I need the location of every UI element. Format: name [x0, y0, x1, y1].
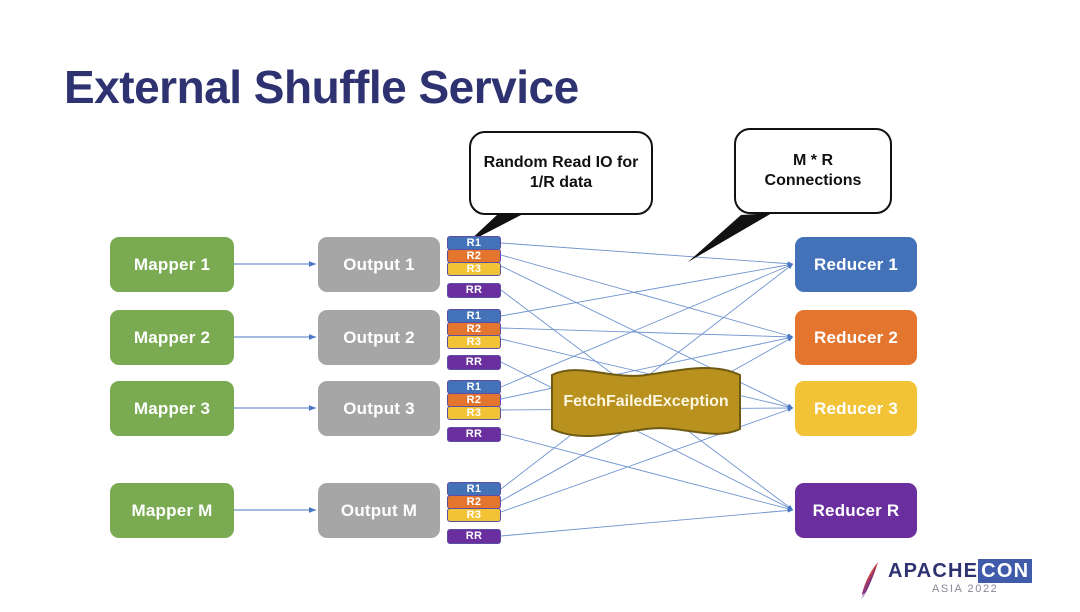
- apachecon-subtitle: ASIA 2022: [932, 583, 998, 595]
- partition-label-m-r3: R3: [467, 510, 482, 521]
- con-text: CON: [978, 559, 1032, 583]
- partition-label-3-rr: RR: [466, 429, 483, 440]
- partition-strip-m-r2[interactable]: R2: [447, 495, 501, 509]
- reducer-label-1: Reducer 1: [814, 255, 898, 275]
- partition-label-2-r1: R1: [467, 311, 482, 322]
- partition-strip-m-r3[interactable]: R3: [447, 508, 501, 522]
- partition-label-1-r3: R3: [467, 264, 482, 275]
- connections-callout: M * R Connections: [734, 128, 892, 214]
- reducer-node-1[interactable]: Reducer 1: [795, 237, 917, 292]
- output-node-m[interactable]: Output M: [318, 483, 440, 538]
- partition-label-m-r1: R1: [467, 484, 482, 495]
- partition-label-2-r2: R2: [467, 324, 482, 335]
- partition-strip-1-r2[interactable]: R2: [447, 249, 501, 263]
- partition-strip-1-rr[interactable]: RR: [447, 283, 501, 298]
- fetch-failed-exception-shape: [549, 366, 743, 438]
- mapper-label-2: Mapper 2: [134, 328, 210, 348]
- partition-label-3-r3: R3: [467, 408, 482, 419]
- partition-label-2-r3: R3: [467, 337, 482, 348]
- mapper-label-3: Mapper 3: [134, 399, 210, 419]
- partition-strip-m-r1[interactable]: R1: [447, 482, 501, 496]
- mapper-label-1: Mapper 1: [134, 255, 210, 275]
- reducer-node-3[interactable]: Reducer 3: [795, 381, 917, 436]
- partition-strip-2-r1[interactable]: R1: [447, 309, 501, 323]
- partition-label-2-rr: RR: [466, 357, 483, 368]
- apachecon-logo: APACHECON ASIA 2022: [856, 558, 1032, 602]
- output-label-1: Output 1: [343, 255, 414, 275]
- random-read-callout-text: Random Read IO for 1/R data: [481, 153, 641, 194]
- partition-strip-3-r3[interactable]: R3: [447, 406, 501, 420]
- partition-label-m-rr: RR: [466, 531, 483, 542]
- partition-label-3-r2: R2: [467, 395, 482, 406]
- output-node-2[interactable]: Output 2: [318, 310, 440, 365]
- partition-strip-2-r3[interactable]: R3: [447, 335, 501, 349]
- mapper-node-3[interactable]: Mapper 3: [110, 381, 234, 436]
- mapper-node-2[interactable]: Mapper 2: [110, 310, 234, 365]
- partition-strip-m-rr[interactable]: RR: [447, 529, 501, 544]
- feather-icon: [856, 558, 886, 602]
- partition-strip-3-r2[interactable]: R2: [447, 393, 501, 407]
- mapper-node-m[interactable]: Mapper M: [110, 483, 234, 538]
- partition-label-1-r2: R2: [467, 251, 482, 262]
- reducer-label-3: Reducer 3: [814, 399, 898, 419]
- partition-strip-3-rr[interactable]: RR: [447, 427, 501, 442]
- partition-strip-3-r1[interactable]: R1: [447, 380, 501, 394]
- apachecon-wordmark: APACHECON: [888, 560, 1032, 582]
- apache-text: APACHE: [888, 560, 978, 582]
- partition-strip-1-r1[interactable]: R1: [447, 236, 501, 250]
- output-node-3[interactable]: Output 3: [318, 381, 440, 436]
- partition-label-m-r2: R2: [467, 497, 482, 508]
- partition-label-1-rr: RR: [466, 285, 483, 296]
- slide-canvas: External Shuffle Service: [0, 0, 1080, 612]
- random-read-callout: Random Read IO for 1/R data: [469, 131, 653, 215]
- partition-strip-2-r2[interactable]: R2: [447, 322, 501, 336]
- partition-label-1-r1: R1: [467, 238, 482, 249]
- connections-callout-text: M * R Connections: [746, 151, 880, 192]
- output-label-3: Output 3: [343, 399, 414, 419]
- partition-strip-2-rr[interactable]: RR: [447, 355, 501, 370]
- reducer-node-2[interactable]: Reducer 2: [795, 310, 917, 365]
- reducer-label-r: Reducer R: [813, 501, 900, 521]
- mapper-label-m: Mapper M: [132, 501, 213, 521]
- partition-strip-1-r3[interactable]: R3: [447, 262, 501, 276]
- reducer-label-2: Reducer 2: [814, 328, 898, 348]
- output-label-2: Output 2: [343, 328, 414, 348]
- output-label-m: Output M: [341, 501, 417, 521]
- output-node-1[interactable]: Output 1: [318, 237, 440, 292]
- reducer-node-r[interactable]: Reducer R: [795, 483, 917, 538]
- partition-label-3-r1: R1: [467, 382, 482, 393]
- mapper-node-1[interactable]: Mapper 1: [110, 237, 234, 292]
